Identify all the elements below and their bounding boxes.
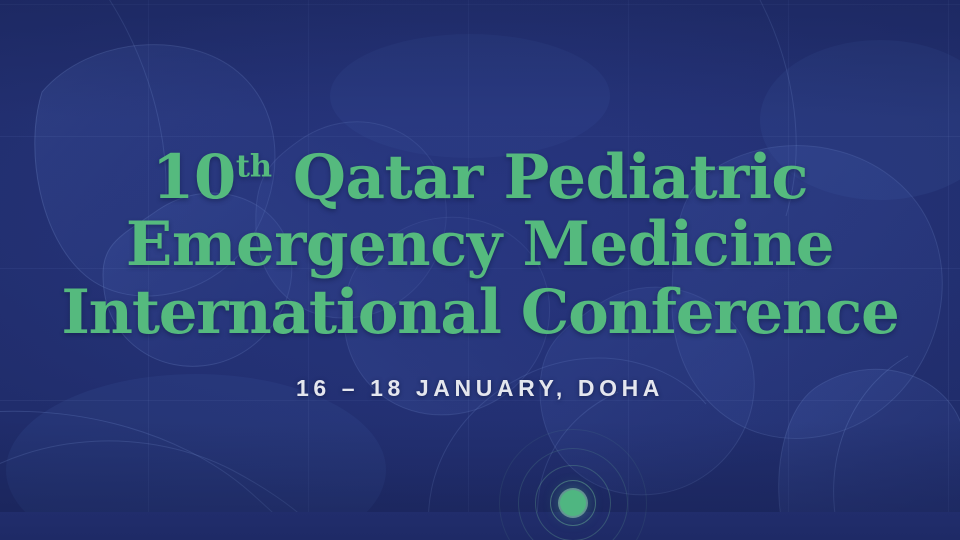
title-line-1: 10th Qatar Pediatric [0,148,960,208]
title-slide: 10th Qatar Pediatric Emergency Medicine … [0,0,960,540]
title-line-1-rest: Qatar Pediatric [272,142,808,213]
conference-title: 10th Qatar Pediatric Emergency Medicine … [0,148,960,343]
edition-ordinal-suffix: th [236,149,272,185]
edition-number: 10 [152,142,236,213]
title-line-2: Emergency Medicine [0,215,960,275]
conference-date-location: 16 – 18 JANUARY, DOHA [296,375,664,402]
slide-content: 10th Qatar Pediatric Emergency Medicine … [0,0,960,540]
title-line-3: International Conference [0,283,960,343]
